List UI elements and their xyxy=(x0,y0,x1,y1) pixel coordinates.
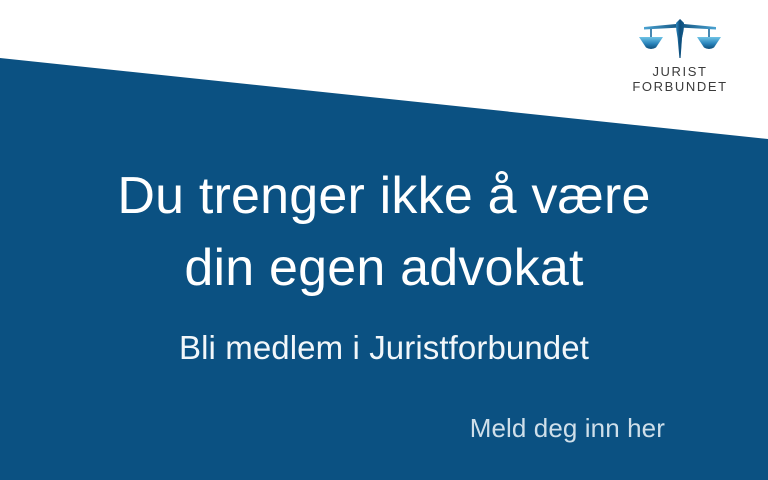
promo-banner: JURIST FORBUNDET Du trenger ikke å være … xyxy=(0,0,768,480)
logo-word-forbundet: FORBUNDET xyxy=(632,79,728,94)
subtitle: Bli medlem i Juristforbundet xyxy=(0,328,768,368)
juristforbundet-logo[interactable]: JURIST FORBUNDET xyxy=(632,16,728,94)
scales-of-justice-icon xyxy=(638,16,722,60)
headline-line-2: din egen advokat xyxy=(0,232,768,304)
signup-link[interactable]: Meld deg inn her xyxy=(470,412,665,444)
cta-container: Meld deg inn her xyxy=(470,412,665,444)
headline-line-1: Du trenger ikke å være xyxy=(0,160,768,232)
subtitle-text: Bli medlem i Juristforbundet xyxy=(179,328,589,368)
headline: Du trenger ikke å være din egen advokat xyxy=(0,160,768,304)
logo-word-jurist: JURIST xyxy=(632,64,728,79)
